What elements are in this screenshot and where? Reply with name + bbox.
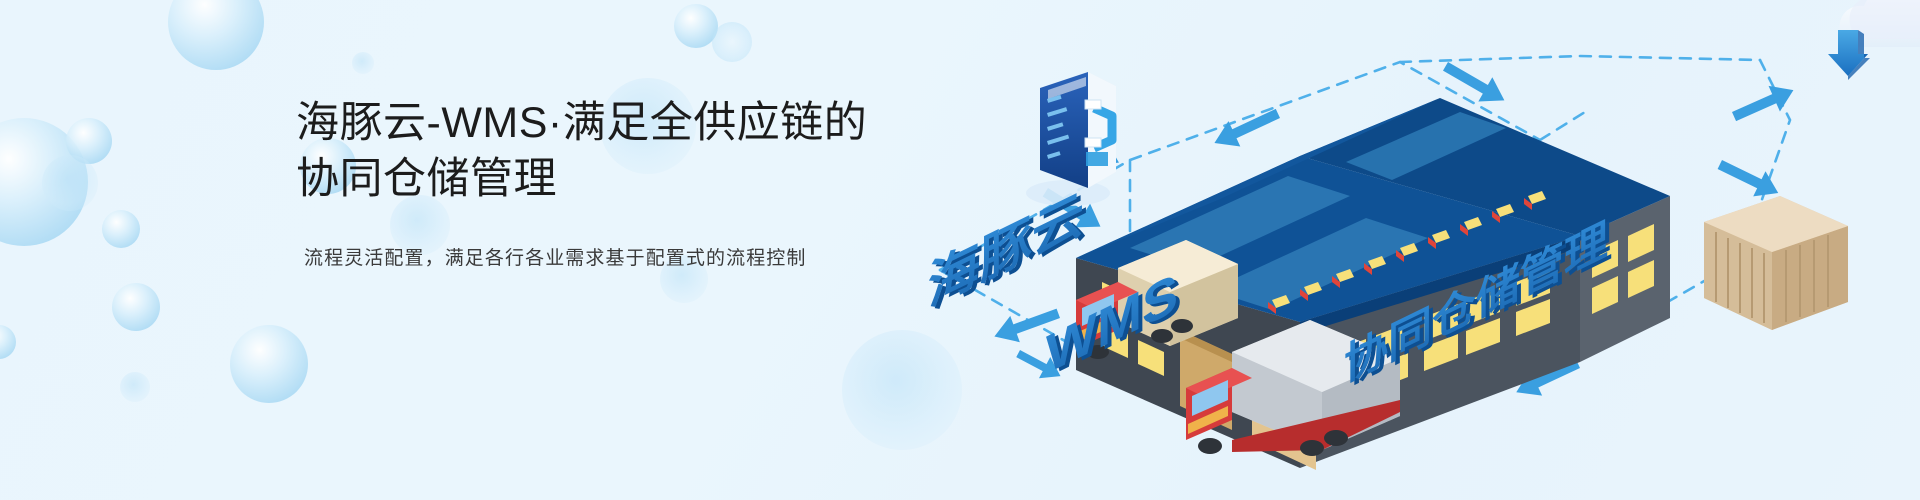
hero-illustration: 海豚云 海豚云 WMS WMS 协同仓储管理 协同仓储管理 xyxy=(880,0,1920,500)
bubble-5 xyxy=(42,155,98,211)
server-node xyxy=(1026,72,1116,206)
page-title: 海豚云-WMS·满足全供应链的 协同仓储管理 xyxy=(296,96,916,208)
illustration-label-brand: 海豚云 海豚云 xyxy=(928,181,1088,322)
bubble-16 xyxy=(352,52,374,74)
label-brand-face: 海豚云 xyxy=(928,183,1084,318)
hero-banner: 海豚云-WMS·满足全供应链的 协同仓储管理 流程灵活配置，满足各行各业需求基于… xyxy=(0,0,1920,500)
page-subtitle: 流程灵活配置，满足各行各业需求基于配置式的流程控制 xyxy=(304,244,916,274)
bubble-15 xyxy=(120,372,150,402)
container-node xyxy=(1704,196,1848,330)
bubble-8 xyxy=(112,283,160,331)
bubble-13 xyxy=(712,22,752,62)
bubble-9 xyxy=(230,325,308,403)
cloud-download-arrow-icon xyxy=(1828,30,1870,80)
hero-copy: 海豚云-WMS·满足全供应链的 协同仓储管理 流程灵活配置，满足各行各业需求基于… xyxy=(296,96,916,274)
bubble-10 xyxy=(0,325,16,359)
cloud-node xyxy=(1828,0,1920,80)
bubble-7 xyxy=(102,210,140,248)
bubble-0 xyxy=(168,0,264,70)
